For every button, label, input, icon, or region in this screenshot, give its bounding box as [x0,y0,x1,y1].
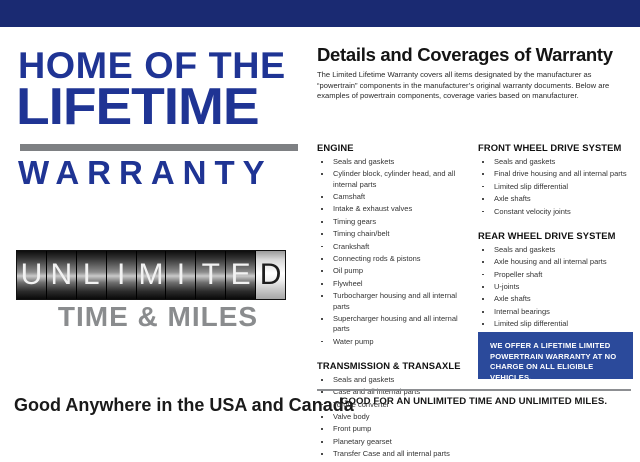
hero-line-warranty: WARRANTY [18,155,308,191]
odometer-cell: E [226,251,256,299]
section-heading-rwd: REAR WHEEL DRIVE SYSTEM [478,230,636,242]
odometer-char: U [21,251,43,299]
list-item: Timing chain/belt [317,229,472,239]
list-item: Constant velocity joints [478,207,636,217]
odometer-char: E [231,251,251,299]
list-item: Axle housing and all internal parts [478,257,636,267]
odometer-cell: I [107,251,137,299]
section-list-fwd: Seals and gaskets Final drive housing an… [478,157,636,217]
list-item: Crankshaft [317,242,472,252]
details-column-right: FRONT WHEEL DRIVE SYSTEM Seals and gaske… [478,142,636,332]
odometer-char: I [177,251,185,299]
section-heading-engine: ENGINE [317,142,472,154]
list-item: U-joints [478,282,636,292]
details-title: Details and Coverages of Warranty [317,44,635,66]
list-item: Planetary gearset [317,437,472,447]
list-item: Axle shafts [478,294,636,304]
list-item: Limited slip differential [478,182,636,192]
odometer-char: L [83,251,100,299]
odometer-caption: TIME & MILES [38,302,278,332]
odometer-graphic: U N L I M I T E D [17,251,285,299]
list-item: Seals and gaskets [478,157,636,167]
odometer-char: T [202,251,220,299]
list-item: Timing gears [317,217,472,227]
list-item: Water pump [317,337,472,347]
section-heading-fwd: FRONT WHEEL DRIVE SYSTEM [478,142,636,154]
odometer-cell: L [77,251,107,299]
footer-divider [317,389,631,391]
offer-callout-text: WE OFFER A LIFETIME LIMITED POWERTRAIN W… [490,341,628,383]
list-item: Turbocharger housing and all internal pa… [317,291,472,312]
hero-panel: HOME OF THE LIFETIME WARRANTY U N L I M … [0,27,313,426]
odometer-char: D [260,251,282,299]
list-item: Seals and gaskets [317,157,472,167]
hero-divider-bar [20,144,298,151]
warranty-flyer: HOME OF THE LIFETIME WARRANTY U N L I M … [0,0,640,426]
list-item: Axle shafts [478,194,636,204]
section-list-engine: Seals and gaskets Cylinder block, cylind… [317,157,472,347]
list-item: Final drive housing and all internal par… [478,169,636,179]
coverage-tagline: Good Anywhere in the USA and Canada [14,394,314,416]
list-item: Seals and gaskets [478,245,636,255]
odometer-cell: T [196,251,226,299]
odometer-char: N [51,251,73,299]
odometer-cell-last: D [256,251,285,299]
details-intro: The Limited Lifetime Warranty covers all… [317,70,631,102]
details-panel: Details and Coverages of Warranty The Li… [313,27,640,426]
details-column-left: ENGINE Seals and gaskets Cylinder block,… [317,142,472,462]
list-item: Oil pump [317,266,472,276]
section-list-rwd: Seals and gaskets Axle housing and all i… [478,245,636,330]
list-item: Camshaft [317,192,472,202]
odometer-char: M [139,251,164,299]
odometer-cell: N [47,251,77,299]
list-item: Valve body [317,412,472,422]
list-item: Connecting rods & pistons [317,254,472,264]
section-heading-transmission: TRANSMISSION & TRANSAXLE [317,360,472,372]
footer-note: GOOD FOR AN UNLIMITED TIME AND UNLIMITED… [317,396,631,408]
odometer-cell: M [137,251,167,299]
odometer-cell: I [166,251,196,299]
section-list-transmission: Seals and gaskets Case and all internal … [317,375,472,460]
list-item: Transfer Case and all internal parts [317,449,472,459]
list-item: Intake & exhaust valves [317,204,472,214]
list-item: Seals and gaskets [317,375,472,385]
odometer-cell: U [17,251,47,299]
odometer-char: I [117,251,125,299]
offer-callout-box: WE OFFER A LIFETIME LIMITED POWERTRAIN W… [478,332,633,379]
list-item: Flywheel [317,279,472,289]
list-item: Internal bearings [478,307,636,317]
list-item: Cylinder block, cylinder head, and all i… [317,169,472,190]
hero-line-lifetime: LIFETIME [16,80,323,134]
list-item: Supercharger housing and all internal pa… [317,314,472,335]
list-item: Propeller shaft [478,270,636,280]
top-navy-band [0,0,640,27]
list-item: Limited slip differential [478,319,636,329]
